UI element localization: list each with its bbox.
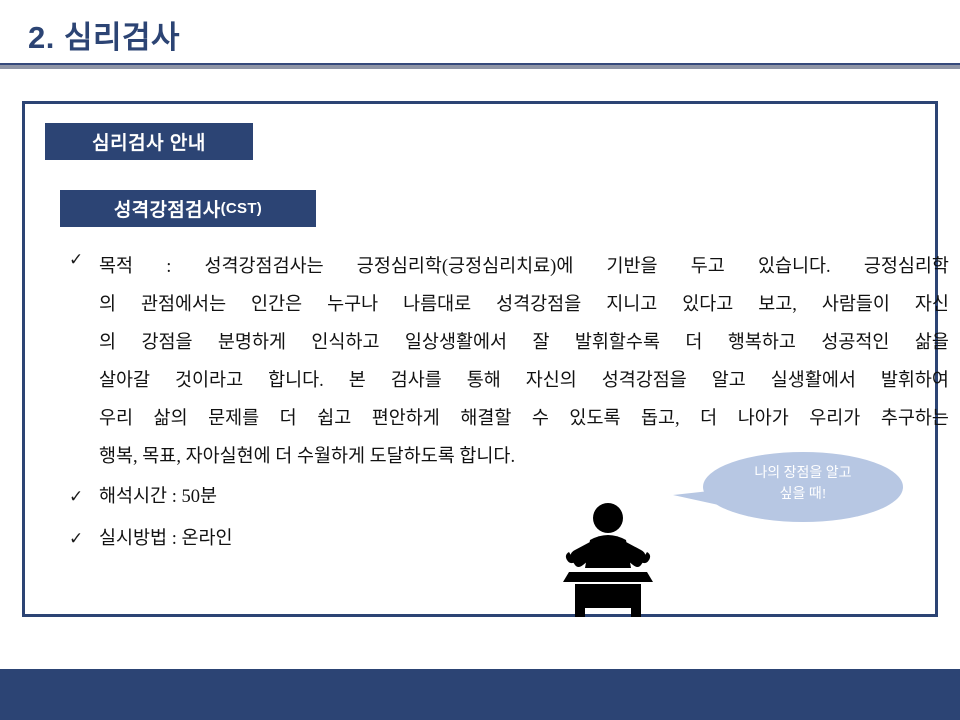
paragraph-word: 더 <box>685 324 702 362</box>
paragraph-word: 있습니다. <box>758 248 831 286</box>
paragraph-word: 의 <box>99 286 116 324</box>
paragraph-word: 분명하게 <box>218 324 286 362</box>
paragraph-word: 보고, <box>758 286 797 324</box>
paragraph-word: 더 <box>280 400 297 438</box>
paragraph-word: 성격강점검사는 <box>205 248 324 286</box>
bullet-method-text: 실시방법 : 온라인 <box>99 524 233 554</box>
paragraph-word: 본 <box>349 362 366 400</box>
paragraph-word: 긍정심리학 <box>864 248 949 286</box>
paragraph-word: 잘 <box>532 324 549 362</box>
paragraph-line: 의강점을분명하게인식하고일상생활에서잘발휘할수록더행복하고성공적인삶을 <box>99 324 949 362</box>
content-panel: 심리검사 안내 성격강점검사(CST) ✓ 목적:성격강점검사는긍정심리학(긍정… <box>22 101 938 617</box>
paragraph-line: 의관점에서는인간은누구나나름대로성격강점을지니고있다고보고,사람들이자신 <box>99 286 949 324</box>
paragraph-line: 우리삶의문제를더쉽고편안하게해결할수있도록돕고,더나아가우리가추구하는 <box>99 400 949 438</box>
paragraph-word: 사람들이 <box>822 286 890 324</box>
paragraph-word: 목적 <box>99 248 133 286</box>
paragraph-word: 성격강점을 <box>496 286 581 324</box>
paragraph-word: 검사를 <box>391 362 442 400</box>
paragraph-word: 강점을 <box>141 324 192 362</box>
badge-character-strengths-test: 성격강점검사(CST) <box>60 190 316 227</box>
paragraph-word: 해결할 <box>460 400 511 438</box>
paragraph-word: 통해 <box>467 362 501 400</box>
badge-cst-name: 성격강점검사 <box>114 195 221 222</box>
speech-bubble-text: 나의 장점을 알고 싶을 때! <box>711 463 895 505</box>
paragraph-word: 발휘할수록 <box>575 324 660 362</box>
check-icon: ✓ <box>69 248 91 272</box>
check-icon: ✓ <box>69 482 91 512</box>
paragraph-word: 편안하게 <box>372 400 440 438</box>
paragraph-word: 있도록 <box>569 400 620 438</box>
bullet-interpretation-time-text: 해석시간 : 50분 <box>99 482 217 512</box>
paragraph-word: 자신 <box>915 286 949 324</box>
paragraph-word: 나름대로 <box>403 286 471 324</box>
paragraph-word: 알고 <box>712 362 746 400</box>
paragraph-word: 발휘하여 <box>881 362 949 400</box>
paragraph-word: 쉽고 <box>317 400 351 438</box>
paragraph-word: 것이라고 <box>175 362 243 400</box>
paragraph-line: 목적:성격강점검사는긍정심리학(긍정심리치료)에기반을두고있습니다.긍정심리학 <box>99 248 949 286</box>
paragraph-word: 살아갈 <box>99 362 150 400</box>
speech-bubble-line-2: 싶을 때! <box>711 484 895 505</box>
page-title: 2. 심리검사 <box>28 19 180 57</box>
paragraph-word: 돕고, <box>641 400 680 438</box>
paragraph-word: 누구나 <box>327 286 378 324</box>
title-underline-rule <box>0 63 960 69</box>
paragraph-word: 우리 <box>99 400 133 438</box>
footer-bar <box>0 669 960 720</box>
paragraph-word: 수 <box>532 400 549 438</box>
paragraph-word: : <box>166 248 171 286</box>
paragraph-word: 성공적인 <box>821 324 889 362</box>
paragraph-word: 자신의 <box>526 362 577 400</box>
paragraph-word: 합니다. <box>268 362 324 400</box>
paragraph-line: 살아갈것이라고합니다.본검사를통해자신의성격강점을알고실생활에서발휘하여 <box>99 362 949 400</box>
paragraph-word: 긍정심리학(긍정심리치료)에 <box>357 248 574 286</box>
badge-psych-test-guide: 심리검사 안내 <box>45 123 253 160</box>
paragraph-word: 관점에서는 <box>141 286 226 324</box>
paragraph-word: 삶을 <box>915 324 949 362</box>
bullet-purpose-text: 목적:성격강점검사는긍정심리학(긍정심리치료)에기반을두고있습니다.긍정심리학 … <box>99 248 949 476</box>
paragraph-word: 나아가 <box>738 400 789 438</box>
badge-guide-label: 심리검사 안내 <box>92 128 206 155</box>
paragraph-word: 행복하고 <box>728 324 796 362</box>
badge-cst-abbrev: (CST) <box>221 200 263 217</box>
paragraph-word: 일상생활에서 <box>405 324 507 362</box>
slide-canvas: 2. 심리검사 심리검사 안내 성격강점검사(CST) ✓ 목적:성격강점검사는… <box>0 0 960 720</box>
paragraph-word: 의 <box>99 324 116 362</box>
paragraph-word: 기반을 <box>607 248 658 286</box>
paragraph-word: 삶의 <box>154 400 188 438</box>
paragraph-word: 문제를 <box>208 400 259 438</box>
paragraph-word: 추구하는 <box>881 400 949 438</box>
paragraph-word: 실생활에서 <box>771 362 856 400</box>
title-rule-bottom-line <box>0 65 960 69</box>
paragraph-word: 지니고 <box>606 286 657 324</box>
paragraph-word: 더 <box>700 400 717 438</box>
paragraph-word: 있다고 <box>682 286 733 324</box>
check-icon: ✓ <box>69 524 91 554</box>
paragraph-word: 인식하고 <box>311 324 379 362</box>
paragraph-word: 성격강점을 <box>602 362 687 400</box>
paragraph-word: 인간은 <box>251 286 302 324</box>
speech-bubble-line-1: 나의 장점을 알고 <box>711 463 895 484</box>
paragraph-word: 우리가 <box>809 400 860 438</box>
paragraph-word: 두고 <box>691 248 725 286</box>
speech-bubble: 나의 장점을 알고 싶을 때! <box>673 452 903 530</box>
